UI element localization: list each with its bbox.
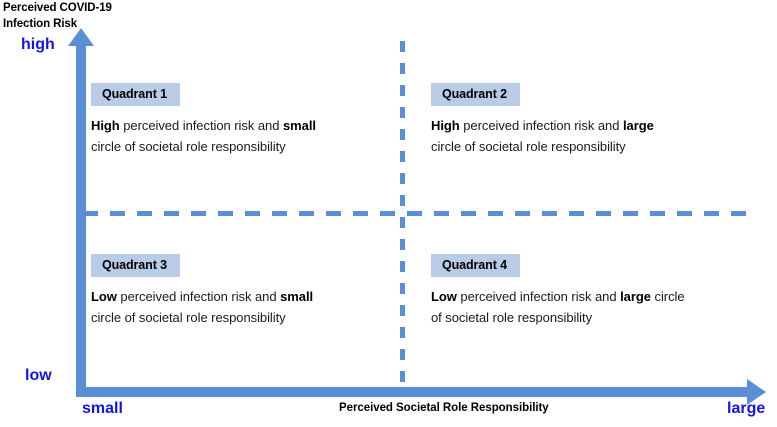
quadrant-matrix-figure: Perceived COVID-19 Infection Risk high l… bbox=[0, 0, 777, 427]
quadrant-2-risk-word: High bbox=[431, 118, 460, 133]
quadrant-4-circle-word: large bbox=[620, 289, 651, 304]
quadrant-2-text-part2: circle of societal role responsibility bbox=[431, 139, 626, 154]
quadrant-3: Quadrant 3 Low perceived infection risk … bbox=[91, 254, 361, 328]
quadrant-1-circle-word: small bbox=[283, 118, 316, 133]
quadrant-3-circle-word: small bbox=[280, 289, 313, 304]
y-axis-shaft bbox=[76, 44, 86, 397]
quadrant-3-text-part2: circle of societal role responsibility bbox=[91, 310, 286, 325]
quadrant-4-text-part1: perceived infection risk and bbox=[457, 289, 620, 304]
quadrant-2-circle-word: large bbox=[623, 118, 654, 133]
quadrant-1-text-part2: circle of societal role responsibility bbox=[91, 139, 286, 154]
quadrant-2-title: Quadrant 2 bbox=[431, 83, 520, 106]
quadrant-1: Quadrant 1 High perceived infection risk… bbox=[91, 83, 361, 157]
x-axis-title: Perceived Societal Role Responsibility bbox=[339, 402, 549, 414]
y-axis-high-label: high bbox=[21, 36, 55, 54]
quadrant-3-text-part1: perceived infection risk and bbox=[117, 289, 280, 304]
x-axis-shaft bbox=[76, 387, 749, 397]
x-axis-large-label: large bbox=[727, 400, 765, 418]
y-axis-arrowhead-icon bbox=[68, 28, 94, 46]
quadrant-2-text-part1: perceived infection risk and bbox=[460, 118, 623, 133]
quadrant-3-risk-word: Low bbox=[91, 289, 117, 304]
horizontal-divider-line bbox=[83, 211, 756, 216]
quadrant-1-text-part1: perceived infection risk and bbox=[120, 118, 283, 133]
quadrant-2: Quadrant 2 High perceived infection risk… bbox=[431, 83, 701, 157]
quadrant-1-description: High perceived infection risk and small … bbox=[91, 116, 346, 157]
quadrant-4-title: Quadrant 4 bbox=[431, 254, 520, 277]
quadrant-4: Quadrant 4 Low perceived infection risk … bbox=[431, 254, 701, 328]
quadrant-3-description: Low perceived infection risk and small c… bbox=[91, 287, 346, 328]
quadrant-1-title: Quadrant 1 bbox=[91, 83, 180, 106]
vertical-divider-line bbox=[400, 41, 405, 397]
x-axis-small-label: small bbox=[82, 400, 123, 418]
quadrant-1-risk-word: High bbox=[91, 118, 120, 133]
quadrant-4-description: Low perceived infection risk and large c… bbox=[431, 287, 686, 328]
quadrant-3-title: Quadrant 3 bbox=[91, 254, 180, 277]
y-axis-low-label: low bbox=[25, 367, 52, 385]
quadrant-4-risk-word: Low bbox=[431, 289, 457, 304]
quadrant-2-description: High perceived infection risk and large … bbox=[431, 116, 686, 157]
